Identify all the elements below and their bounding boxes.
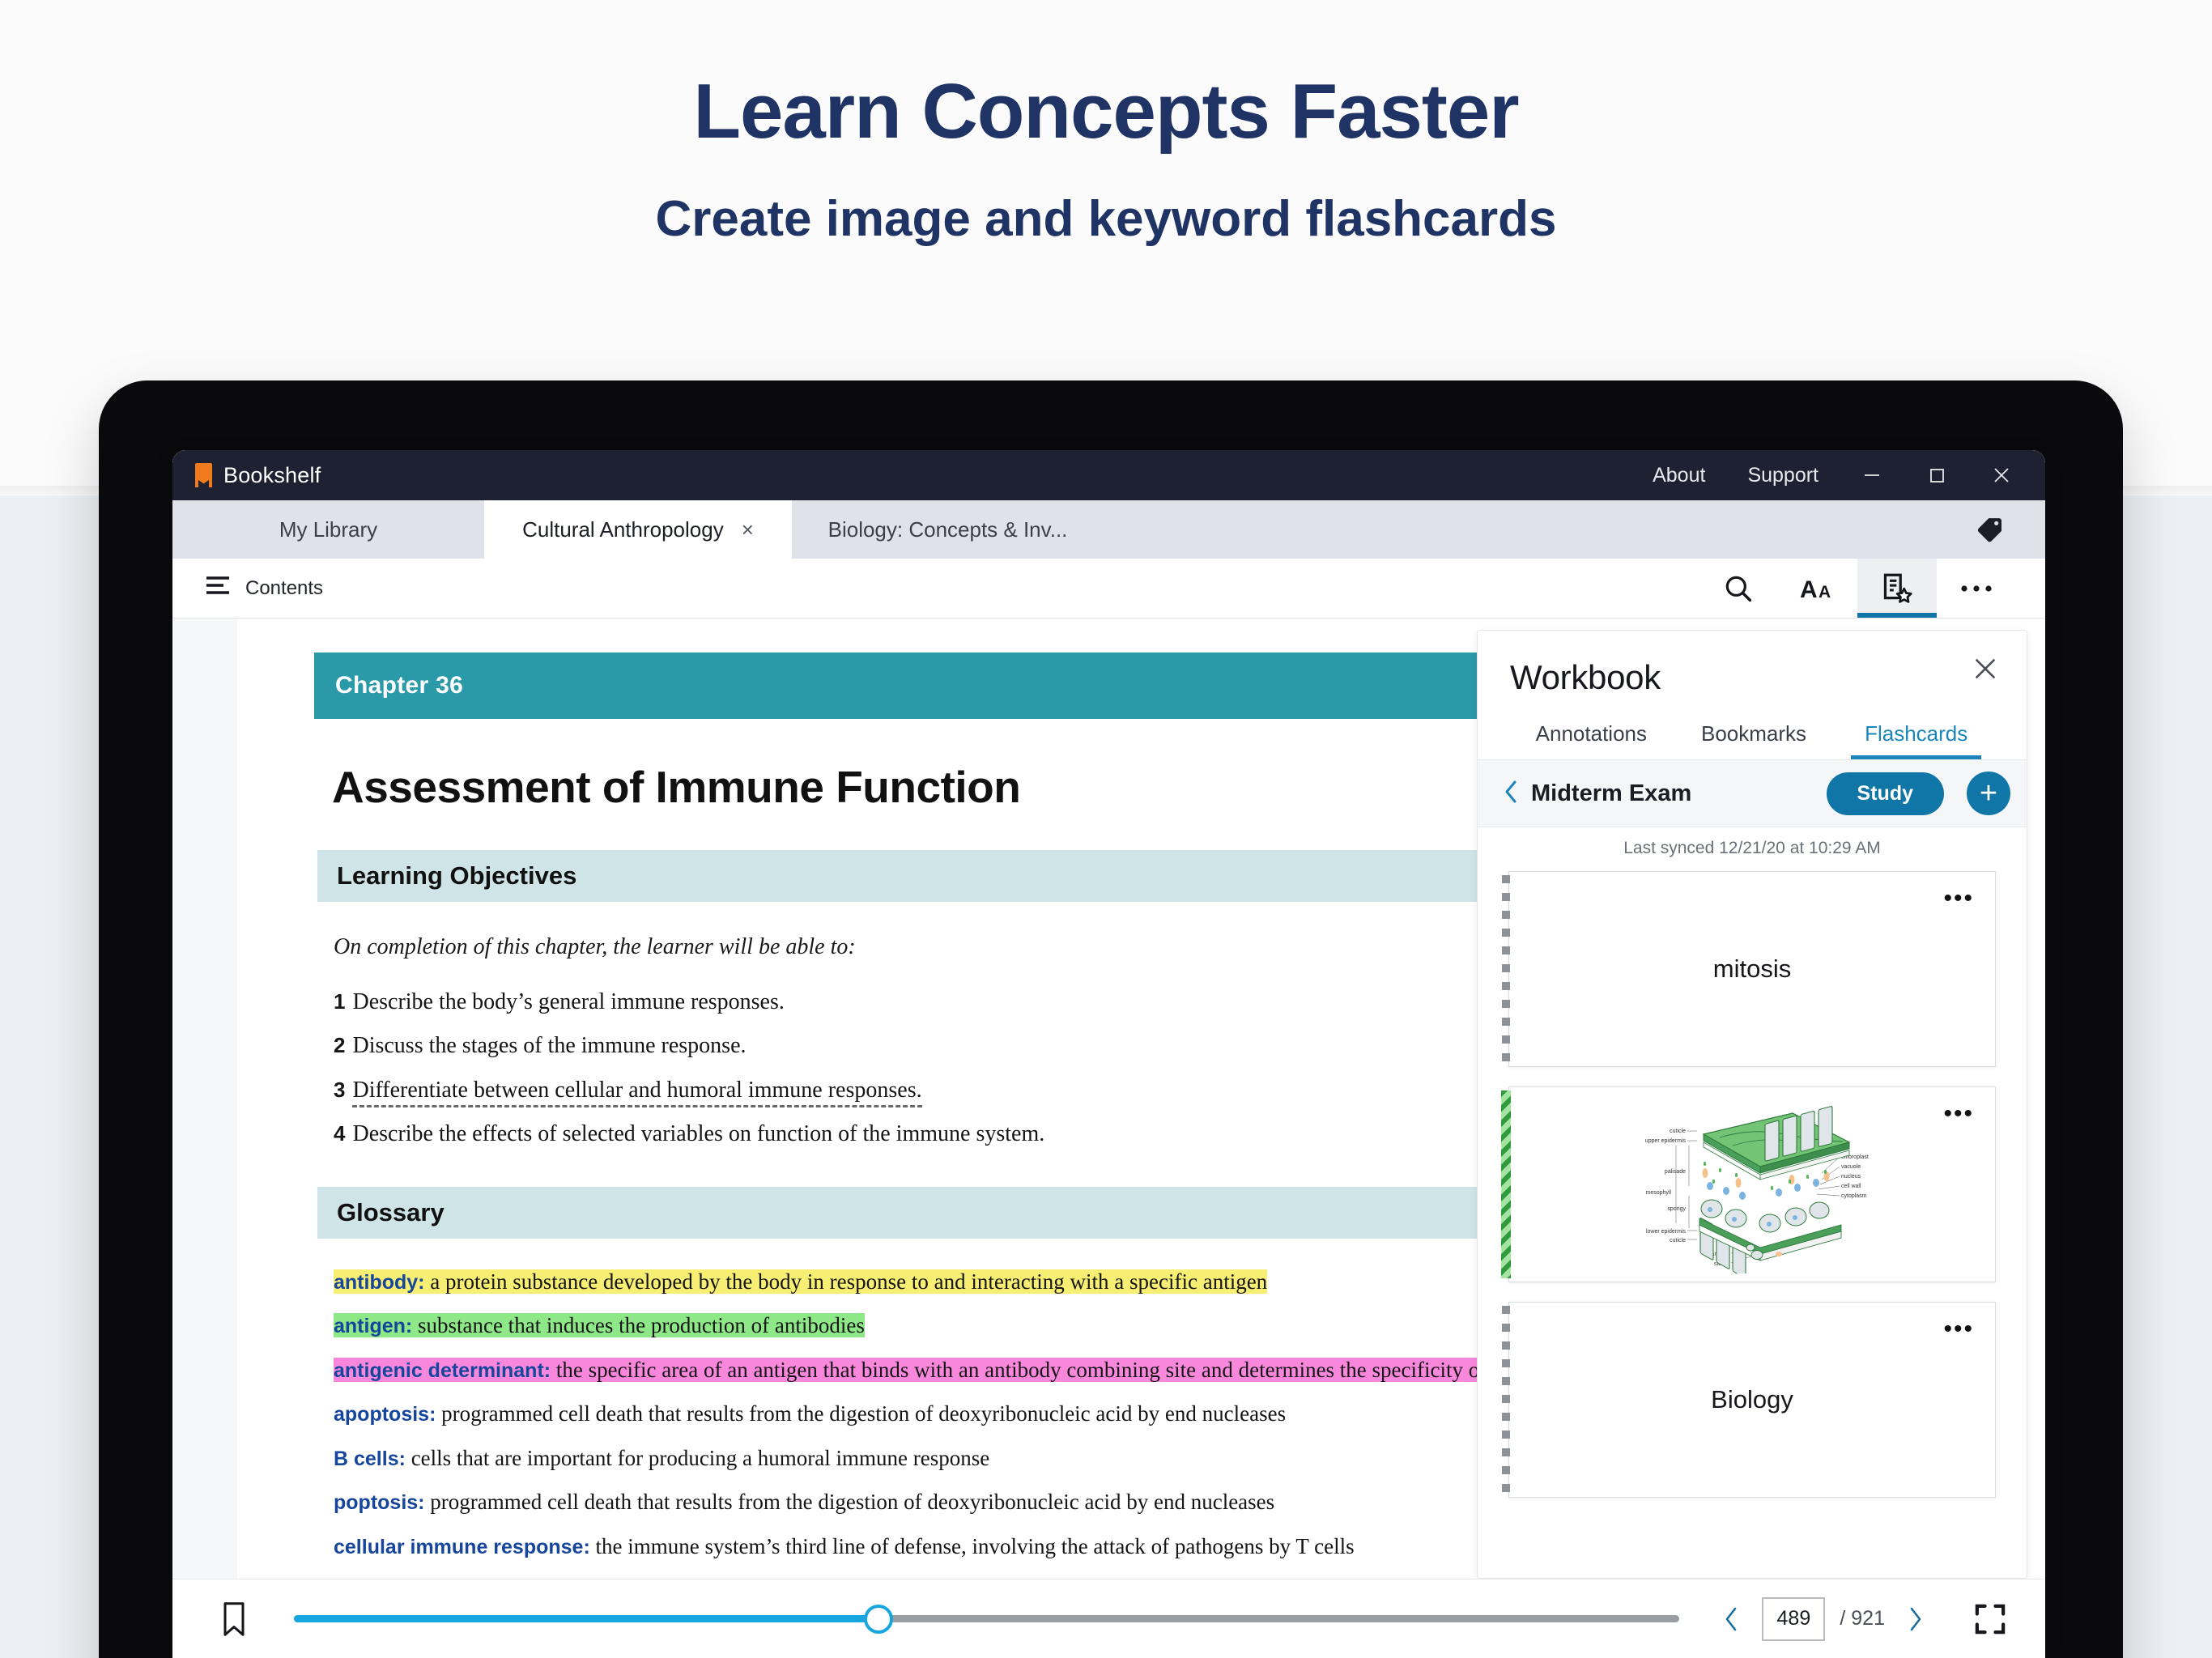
fullscreen-icon[interactable] <box>1964 1602 2016 1636</box>
svg-text:mesophyll: mesophyll <box>1645 1190 1671 1196</box>
about-menu-item[interactable]: About <box>1631 464 1726 487</box>
tab-biology[interactable]: Biology: Concepts & Inv... <box>792 500 1104 559</box>
app-body: Chapter 36 Assessment of Immune Function… <box>172 619 2045 1658</box>
reader-left-margin <box>172 619 237 1658</box>
list-item[interactable]: ••• Biology <box>1508 1302 1996 1498</box>
workbook-flashcard-icon[interactable] <box>1857 559 1937 618</box>
page-subtitle: Create image and keyword flashcards <box>0 192 2212 247</box>
contents-label: Contents <box>245 577 323 600</box>
glossary-definition: cells that are important for producing a… <box>406 1446 989 1470</box>
support-menu-item[interactable]: Support <box>1726 464 1840 487</box>
workbook-title: Workbook <box>1510 658 1997 697</box>
svg-text:palisade: palisade <box>1665 1169 1686 1175</box>
tab-annotations[interactable]: Annotations <box>1510 721 1673 759</box>
deck-subbar: Midterm Exam Study + <box>1478 759 2027 827</box>
objective-number: 4 <box>334 1121 345 1146</box>
flashcard-text: Biology <box>1711 1385 1793 1414</box>
search-icon[interactable] <box>1699 559 1778 618</box>
last-synced-label: Last synced 12/21/20 at 10:29 AM <box>1508 827 1996 871</box>
more-options-icon[interactable] <box>1937 559 2016 618</box>
deck-name: Midterm Exam <box>1531 780 1691 807</box>
svg-text:cuticle: cuticle <box>1670 1238 1686 1243</box>
highlight-yellow[interactable]: antibody: a protein substance developed … <box>334 1269 1267 1294</box>
objective-number: 2 <box>334 1033 345 1057</box>
glossary-term: poptosis: <box>334 1491 425 1514</box>
promo-page: Learn Concepts Faster Create image and k… <box>0 0 2212 1658</box>
objective-text: Discuss the stages of the immune respons… <box>352 1033 746 1058</box>
page-number-input[interactable]: 489 <box>1762 1597 1825 1641</box>
slider-thumb[interactable] <box>864 1605 893 1634</box>
svg-text:spongy: spongy <box>1667 1206 1686 1212</box>
flashcard-text: mitosis <box>1713 954 1791 984</box>
svg-text:vacuole: vacuole <box>1841 1164 1861 1170</box>
workbook-header: Workbook <box>1478 631 2027 697</box>
tag-icon[interactable] <box>1974 500 2045 559</box>
tab-bookmarks[interactable]: Bookmarks <box>1673 721 1836 759</box>
svg-text:cytoplasm: cytoplasm <box>1841 1193 1867 1199</box>
glossary-term: antigen: <box>334 1315 412 1337</box>
tab-label: My Library <box>279 517 377 542</box>
tab-label: Biology: Concepts & Inv... <box>828 517 1068 542</box>
tab-flashcards[interactable]: Flashcards <box>1835 721 1997 759</box>
toolbar-spacer <box>323 559 1699 618</box>
glossary-term: apoptosis: <box>334 1403 436 1426</box>
bookshelf-logo-icon <box>195 463 212 487</box>
objective-number: 1 <box>334 989 345 1014</box>
objective-number: 3 <box>334 1078 345 1102</box>
window-controls <box>1840 450 2045 500</box>
tab-label: Cultural Anthropology <box>522 517 724 542</box>
page-title: Learn Concepts Faster <box>0 71 2212 153</box>
chevron-left-icon <box>1502 779 1520 809</box>
slider-fill <box>294 1615 878 1622</box>
window-titlebar: Bookshelf About Support <box>172 450 2045 500</box>
contents-button[interactable]: Contents <box>172 559 323 618</box>
svg-text:cell wall: cell wall <box>1841 1184 1861 1189</box>
card-more-icon[interactable]: ••• <box>1943 886 1974 911</box>
add-flashcard-button[interactable]: + <box>1967 772 2010 815</box>
tab-cultural-anthropology[interactable]: Cultural Anthropology × <box>484 500 792 559</box>
page-total-label: / 921 <box>1840 1607 1885 1630</box>
glossary-definition: programmed cell death that results from … <box>425 1490 1275 1514</box>
objective-text: Describe the body’s general immune respo… <box>352 989 784 1014</box>
book-tabstrip: My Library Cultural Anthropology × Biolo… <box>172 500 2045 559</box>
list-item[interactable]: ••• mitosis <box>1508 871 1996 1067</box>
app-brand-label: Bookshelf <box>223 463 321 488</box>
glossary-definition: the immune system’s third line of defens… <box>590 1534 1355 1558</box>
bookmark-icon[interactable] <box>210 1601 258 1637</box>
svg-text:cuticle: cuticle <box>1670 1129 1686 1134</box>
glossary-term: B cells: <box>334 1448 406 1470</box>
objective-text: Describe the effects of selected variabl… <box>352 1121 1044 1146</box>
glossary-term: cellular immune response: <box>334 1536 590 1558</box>
card-spine-icon <box>1502 875 1510 1063</box>
font-size-icon[interactable]: A A <box>1778 559 1857 618</box>
previous-page-button[interactable] <box>1715 1605 1747 1633</box>
workbook-panel: Workbook Annotations Bookmarks Flashcard… <box>1477 630 2027 1579</box>
glossary-definition: substance that induces the production of… <box>412 1313 865 1337</box>
glossary-definition: a protein substance developed by the bod… <box>425 1269 1268 1294</box>
svg-text:upper epidermis: upper epidermis <box>1645 1138 1687 1144</box>
svg-text:A: A <box>1819 583 1831 602</box>
svg-text:lower epidermis: lower epidermis <box>1646 1229 1687 1235</box>
card-more-icon[interactable]: ••• <box>1943 1317 1974 1341</box>
list-item[interactable]: ••• cuticle upper epidermis palisade mes… <box>1508 1086 1996 1282</box>
close-button[interactable] <box>1969 450 2034 500</box>
maximize-button[interactable] <box>1904 450 1969 500</box>
svg-text:nucleus: nucleus <box>1841 1174 1861 1180</box>
tab-my-library[interactable]: My Library <box>172 500 484 559</box>
tab-close-icon[interactable]: × <box>742 519 754 540</box>
reader-bottom-bar: 489 / 921 <box>172 1579 2045 1658</box>
svg-text:A: A <box>1800 576 1818 603</box>
deck-back-button[interactable]: Midterm Exam <box>1502 779 1691 809</box>
promo-text: Learn Concepts Faster Create image and k… <box>0 0 2212 247</box>
card-spine-icon <box>1501 1090 1511 1278</box>
next-page-button[interactable] <box>1899 1605 1932 1633</box>
flashcard-list[interactable]: Last synced 12/21/20 at 10:29 AM ••• mit… <box>1478 827 2027 1578</box>
card-spine-icon <box>1502 1306 1510 1494</box>
card-more-icon[interactable]: ••• <box>1943 1102 1974 1126</box>
page-navigation: 489 / 921 <box>1715 1597 1932 1641</box>
glossary-definition: programmed cell death that results from … <box>436 1401 1286 1426</box>
bookshelf-app-window: Bookshelf About Support My Library <box>172 450 2045 1658</box>
glossary-term: antibody: <box>334 1271 425 1294</box>
glossary-term: antigenic determinant: <box>334 1359 551 1382</box>
app-brand: Bookshelf <box>172 463 321 488</box>
page-slider[interactable] <box>294 1601 1679 1637</box>
minimize-button[interactable] <box>1840 450 1904 500</box>
highlight-green[interactable]: antigen: substance that induces the prod… <box>334 1313 865 1337</box>
reader-toolbar: Contents A A <box>172 559 2045 619</box>
workbook-close-icon[interactable] <box>1968 652 2002 686</box>
study-button[interactable]: Study <box>1827 772 1944 815</box>
leaf-cross-section-diagram-icon: cuticle upper epidermis palisade mesophy… <box>1509 1087 1995 1282</box>
hamburger-icon <box>205 575 231 602</box>
objective-text-annotated[interactable]: Differentiate between cellular and humor… <box>352 1078 921 1107</box>
workbook-tabs: Annotations Bookmarks Flashcards <box>1478 721 2027 759</box>
